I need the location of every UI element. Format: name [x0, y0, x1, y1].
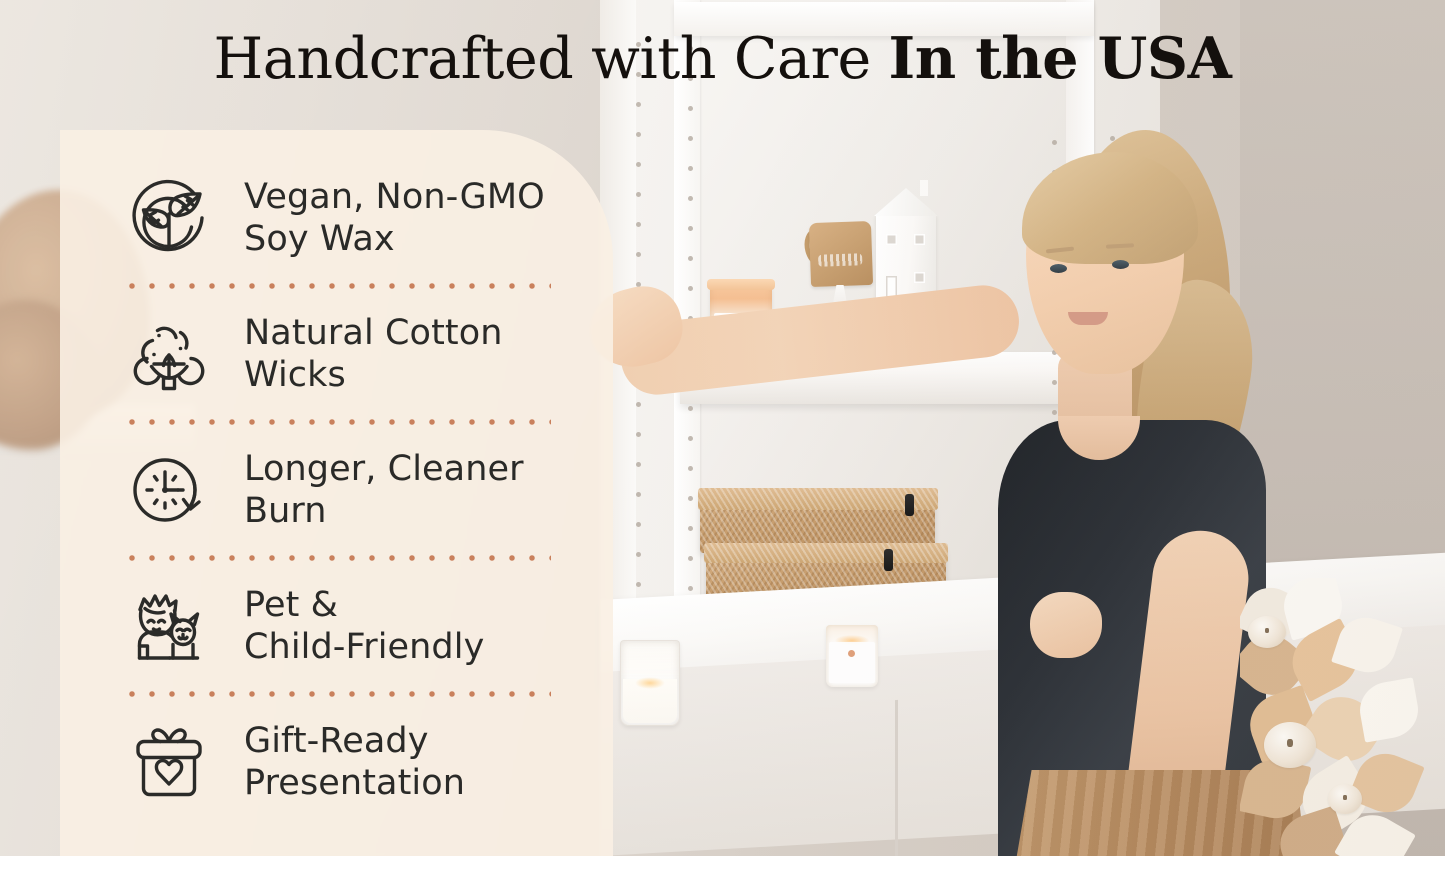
- wooden-together-sign: [809, 221, 873, 287]
- autumn-leaf-garland: [1240, 578, 1445, 856]
- divider-1: [122, 274, 551, 298]
- clock-arrow-icon: [122, 443, 216, 537]
- promo-banner: Handcrafted with Care In the USA: [0, 0, 1445, 894]
- feature-item-cotton: Natural Cotton Wicks: [60, 298, 613, 410]
- feature-label-cotton: Natural Cotton Wicks: [244, 312, 503, 397]
- feature-item-burn: Longer, Cleaner Burn: [60, 434, 613, 546]
- gift-heart-icon: [122, 715, 216, 809]
- cotton-boll-icon: [122, 307, 216, 401]
- ceramic-house-window: [914, 234, 925, 245]
- feature-label-vegan: Vegan, Non-GMO Soy Wax: [244, 176, 545, 261]
- woven-seagrass-box-bottom-lid: [704, 543, 948, 563]
- page-title: Handcrafted with Care In the USA: [0, 28, 1445, 91]
- ceramic-house-window: [914, 272, 925, 283]
- ceramic-house-window: [886, 234, 897, 245]
- basket-clasp-top: [905, 494, 914, 516]
- features-list: Vegan, Non-GMO Soy Wax: [60, 130, 613, 856]
- feature-label-gift: Gift-Ready Presentation: [244, 720, 465, 805]
- white-pumpkin: [1248, 616, 1286, 648]
- candle-jar-rim: [707, 279, 775, 290]
- child-cat-icon: [122, 579, 216, 673]
- ceramic-house-chimney: [920, 180, 928, 196]
- divider-3: [122, 546, 551, 570]
- feature-label-pet-child: Pet & Child-Friendly: [244, 584, 484, 669]
- sign-script-text: [818, 253, 862, 267]
- cabinet-seam: [895, 700, 898, 856]
- title-regular: Handcrafted with Care: [214, 26, 871, 92]
- title-bold: In the USA: [889, 25, 1232, 92]
- feature-item-vegan: Vegan, Non-GMO Soy Wax: [60, 162, 613, 274]
- basket-clasp-bottom: [884, 549, 893, 571]
- candle-label-motif: [848, 650, 855, 657]
- features-card: Vegan, Non-GMO Soy Wax: [60, 130, 613, 856]
- hand-on-hip: [1030, 592, 1102, 658]
- white-pumpkin: [1264, 722, 1316, 768]
- garland-leaf: [1356, 677, 1423, 742]
- feature-item-gift: Gift-Ready Presentation: [60, 706, 613, 818]
- bottom-white-strip: [0, 856, 1445, 894]
- feature-item-pet-child: Pet & Child-Friendly: [60, 570, 613, 682]
- divider-2: [122, 410, 551, 434]
- white-pumpkin: [1328, 784, 1362, 814]
- divider-4: [122, 682, 551, 706]
- lit-candle-jar-counter-right: [826, 625, 878, 687]
- lit-candle-jar-counter-left: [620, 640, 680, 726]
- leaf-circle-icon: [122, 171, 216, 265]
- woven-seagrass-box-top-lid: [698, 488, 938, 510]
- candle-jar-label: [829, 642, 875, 683]
- eye-left: [1050, 264, 1067, 273]
- eye-right: [1112, 260, 1129, 269]
- candle-flame-glow: [635, 677, 665, 689]
- feature-label-burn: Longer, Cleaner Burn: [244, 448, 524, 533]
